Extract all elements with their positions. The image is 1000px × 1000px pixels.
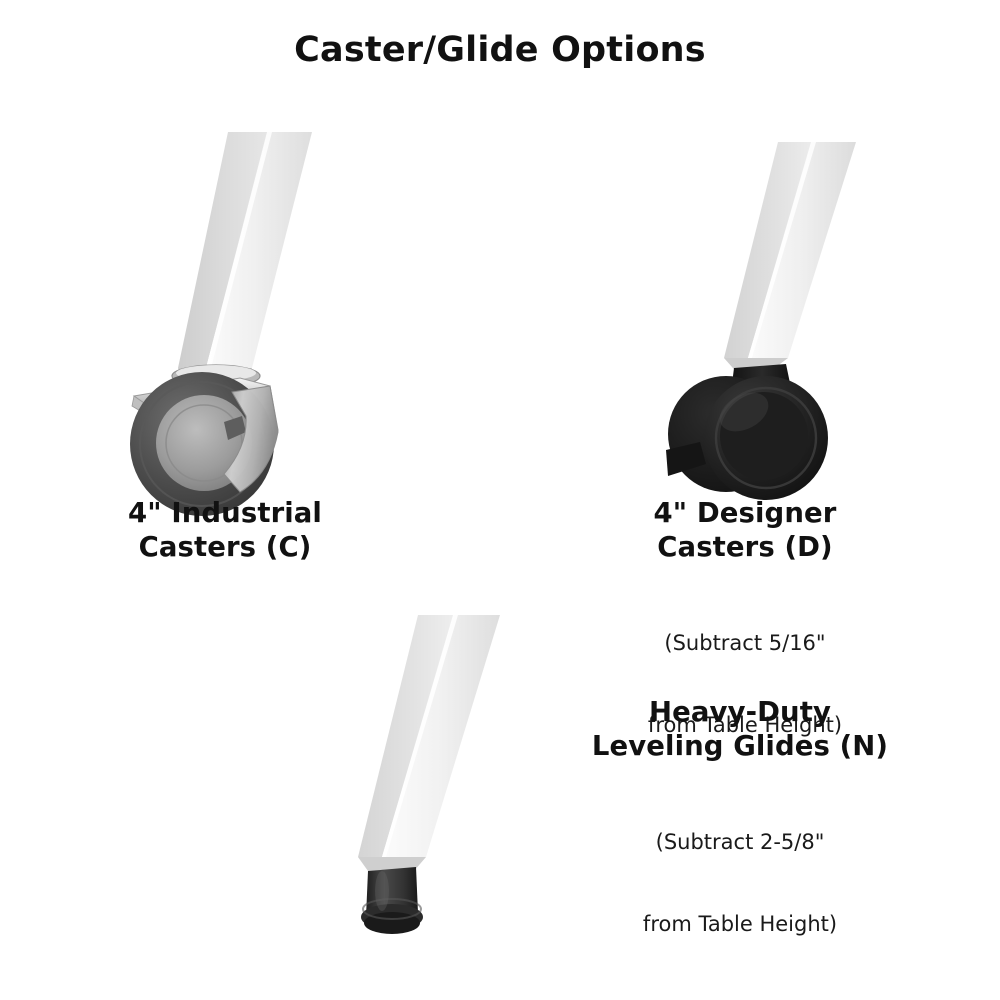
industrial-caster-svg bbox=[120, 110, 380, 490]
glide-body-gloss bbox=[375, 871, 389, 911]
caption-designer-note-line1: (Subtract 5/16" bbox=[565, 630, 925, 657]
caster-glide-options-diagram: Caster/Glide Options bbox=[0, 0, 1000, 1000]
designer-caster-illustration bbox=[660, 120, 920, 495]
industrial-caster-illustration bbox=[120, 110, 380, 490]
designer-caster-svg bbox=[660, 120, 920, 495]
caption-leveling-glides: Heavy-Duty Leveling Glides (N) (Subtract… bbox=[540, 695, 940, 993]
caption-glide-note-line1: (Subtract 2-5/8" bbox=[540, 829, 940, 856]
caption-glide-line1: Heavy-Duty bbox=[540, 695, 940, 729]
caption-designer-line2: Casters (D) bbox=[565, 530, 925, 564]
caption-industrial-casters: 4" Industrial Casters (C) bbox=[45, 496, 405, 565]
caption-industrial-line1: 4" Industrial bbox=[45, 496, 405, 530]
caption-glide-note-line2: from Table Height) bbox=[540, 911, 940, 938]
caption-designer-line1: 4" Designer bbox=[565, 496, 925, 530]
page-title: Caster/Glide Options bbox=[0, 30, 1000, 70]
caption-glide-line2: Leveling Glides (N) bbox=[540, 729, 940, 763]
glide-base-ring-lower bbox=[364, 912, 420, 934]
caption-industrial-line2: Casters (C) bbox=[45, 530, 405, 564]
caption-glide-note: (Subtract 2-5/8" from Table Height) bbox=[540, 775, 940, 993]
